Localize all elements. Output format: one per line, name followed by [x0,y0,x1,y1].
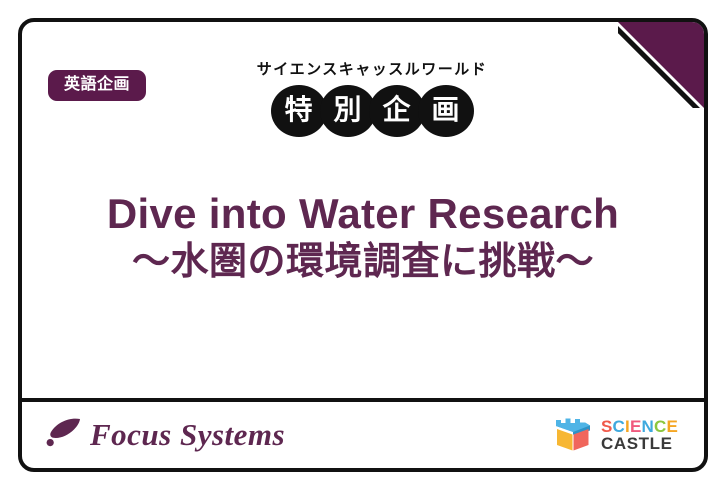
sc-letter-7: E [666,418,678,435]
pill-char-4: 画 [418,85,474,137]
pill-char-2-label: 別 [333,96,361,124]
sc-letter-5: N [641,418,653,435]
kicker-text: サイエンスキャッスルワールド [40,62,704,79]
sc-letter-6: C [654,418,666,435]
card-footer: Focus Systems [22,402,704,468]
science-castle-wordmark: SCIENCE CASTLE [601,418,678,453]
card-body: 英語企画 サイエンスキャッスルワールド 特 別 企 画 [18,18,708,472]
pill-char-1: 特 [271,85,327,137]
science-castle-line2: CASTLE [601,435,678,452]
focus-comet-icon [44,416,84,455]
special-program-pills: 特 別 企 画 [271,85,474,137]
pill-char-3: 企 [369,85,425,137]
pill-char-1-label: 特 [284,96,312,124]
flyer-card: 英語企画 サイエンスキャッスルワールド 特 別 企 画 [18,18,708,472]
card-header: 英語企画 サイエンスキャッスルワールド 特 別 企 画 [22,22,704,172]
focus-systems-logo: Focus Systems [44,416,285,455]
pill-char-2: 別 [320,85,376,137]
sc-letter-1: S [601,418,613,435]
main-title-block: Dive into Water Research 〜水圏の環境調査に挑戦〜 [22,190,704,286]
title-japanese: 〜水圏の環境調査に挑戦〜 [22,240,704,286]
science-castle-line1: SCIENCE [601,418,678,435]
pill-char-3-label: 企 [382,96,410,124]
sc-letter-4: E [630,418,642,435]
title-english: Dive into Water Research [22,190,704,238]
kicker-block: サイエンスキャッスルワールド 特 別 企 画 [22,62,704,137]
castle-cube-icon [552,413,594,458]
sc-letter-2: C [613,418,625,435]
pill-char-4-label: 画 [431,96,459,124]
science-castle-logo: SCIENCE CASTLE [552,413,678,458]
focus-systems-wordmark: Focus Systems [90,417,285,453]
